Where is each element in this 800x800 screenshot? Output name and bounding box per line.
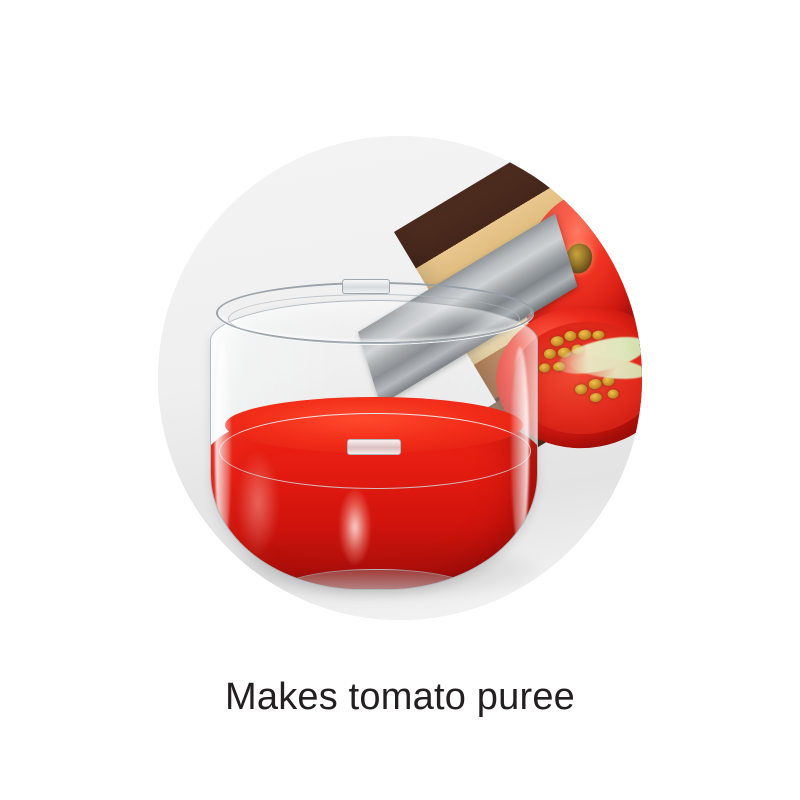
glass-right-highlight	[511, 347, 529, 547]
glass-rim-inner	[228, 294, 520, 344]
glass-rim-tab	[342, 279, 390, 294]
puree-center-highlight	[339, 489, 371, 565]
product-photo-medallion	[158, 136, 642, 620]
photo-scene	[158, 136, 642, 620]
feature-card: Makes tomato puree	[0, 0, 800, 800]
glass-mid-tab	[347, 439, 401, 455]
tomato-back-highlight	[590, 208, 639, 244]
glass-left-highlight	[215, 341, 231, 551]
glass-bowl	[210, 282, 536, 588]
feature-caption: Makes tomato puree	[0, 676, 800, 719]
